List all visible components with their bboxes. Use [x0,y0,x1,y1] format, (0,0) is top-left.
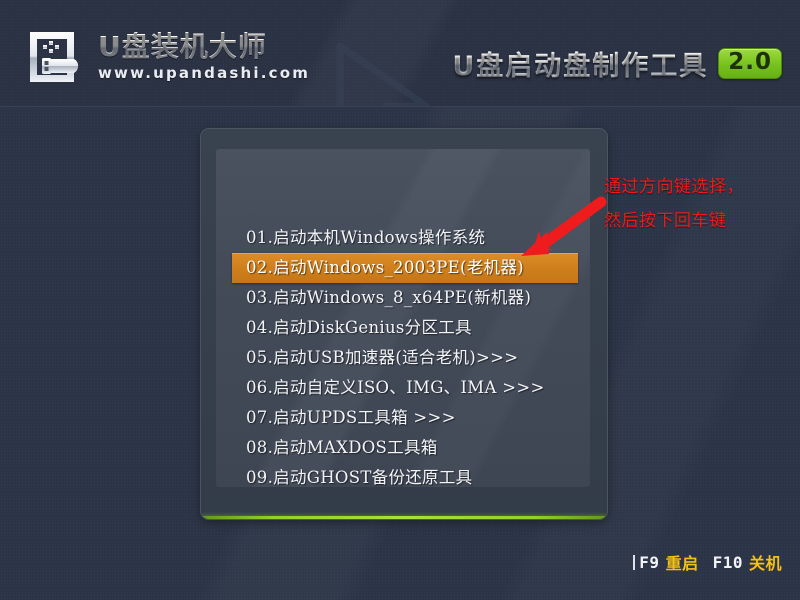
usb-drive-icon [26,28,88,86]
instruction-annotation: 通过方向键选择， 然后按下回车键 [604,170,800,238]
footer-action-restart: 重启 [666,550,699,574]
footer-key-f10: F10 [713,553,743,572]
boot-menu-item-08[interactable]: 08.启动MAXDOS工具箱 [232,433,578,463]
brand-url: www.upandashi.com [98,64,310,82]
cursor-arrow-watermark-icon [330,40,460,107]
panel-accent-line [201,516,607,519]
boot-menu-item-05[interactable]: 05.启动USB加速器(适合老机)>>> [232,343,578,373]
footer-key-hints: F9 重启 F10 关机 [633,550,782,574]
boot-menu-screen: U盘装机大师 www.upandashi.com U盘启动盘制作工具 2.0 0… [0,0,800,600]
boot-menu-panel: 01.启动本机Windows操作系统 02.启动Windows_2003PE(老… [200,128,608,520]
boot-menu-item-06[interactable]: 06.启动自定义ISO、IMG、IMA >>> [232,373,578,403]
boot-menu-item-09[interactable]: 09.启动GHOST备份还原工具 [232,463,578,487]
version-badge: 2.0 [718,48,782,80]
product-title: U盘启动盘制作工具 [452,44,708,83]
app-header: U盘装机大师 www.upandashi.com U盘启动盘制作工具 2.0 [0,0,800,107]
annotation-line-2: 然后按下回车键 [604,204,800,238]
brand-logo: U盘装机大师 www.upandashi.com [26,28,310,86]
brand-title: U盘装机大师 [98,32,310,61]
boot-menu-list: 01.启动本机Windows操作系统 02.启动Windows_2003PE(老… [232,223,578,487]
boot-menu-item-03[interactable]: 03.启动Windows_8_x64PE(新机器) [232,283,578,313]
boot-menu-item-04[interactable]: 04.启动DiskGenius分区工具 [232,313,578,343]
footer-divider-bar [633,555,635,570]
footer-key-f9: F9 [639,553,659,572]
product-title-group: U盘启动盘制作工具 2.0 [452,44,782,83]
red-arrow-icon [497,196,609,258]
annotation-line-1: 通过方向键选择， [604,170,800,204]
boot-menu-item-07[interactable]: 07.启动UPDS工具箱 >>> [232,403,578,433]
brand-logo-text: U盘装机大师 www.upandashi.com [98,32,310,81]
footer-action-shutdown: 关机 [749,550,782,574]
